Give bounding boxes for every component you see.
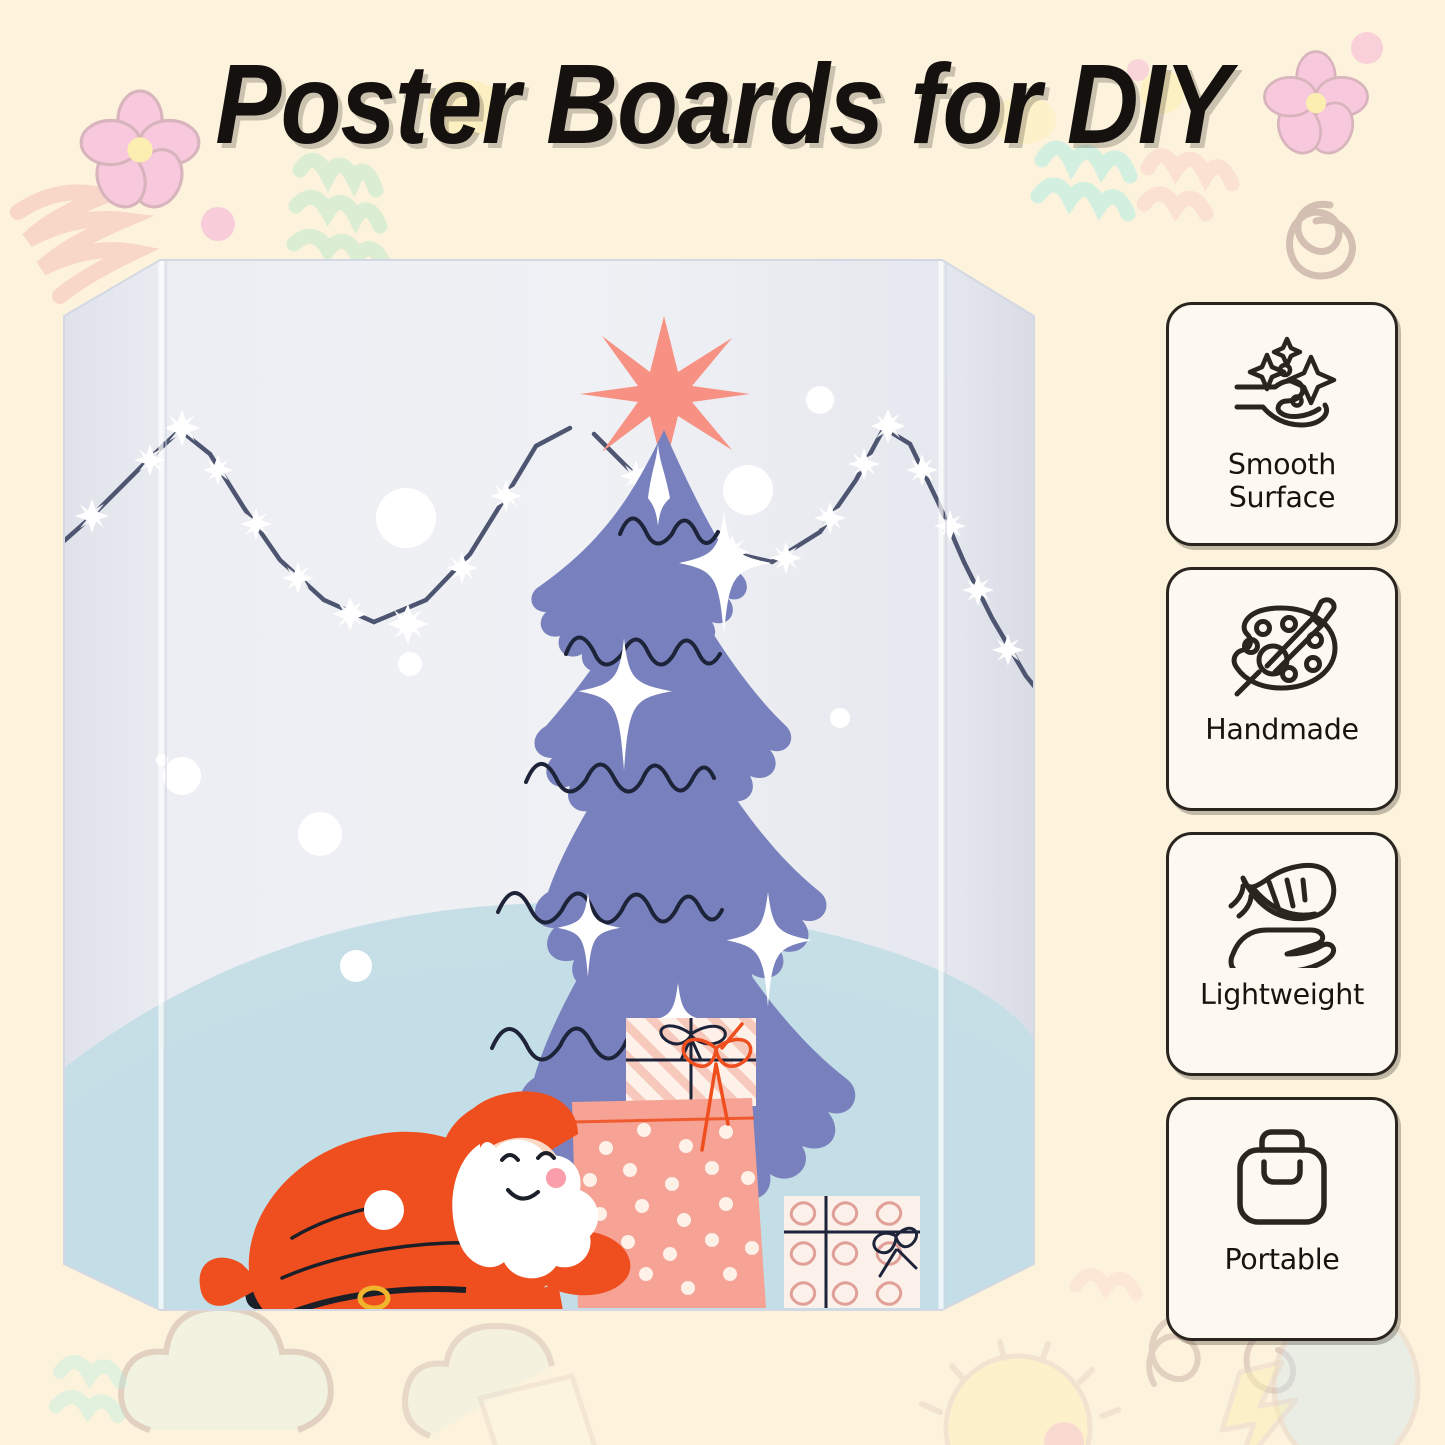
product-marketing-image: Poster Boards for DIY	[0, 0, 1445, 1445]
santa-cheek	[546, 1168, 566, 1188]
feature-badge-label: Smooth Surface	[1222, 448, 1342, 515]
feature-badge-label: Handmade	[1199, 713, 1365, 746]
feature-badge-portable[interactable]: Portable	[1166, 1097, 1398, 1341]
paint-palette-brush-icon	[1217, 592, 1347, 707]
feature-badge-lightweight[interactable]: Lightweight	[1166, 832, 1398, 1076]
dot-pink-1	[201, 207, 235, 241]
feature-badge-label: Lightweight	[1194, 978, 1370, 1011]
poster-board	[30, 248, 1120, 1323]
feature-badge-smooth-surface[interactable]: Smooth Surface	[1166, 302, 1398, 546]
page-title-wrap: Poster Boards for DIY	[0, 48, 1445, 161]
santa-hat-pompom	[364, 1190, 404, 1230]
feature-badge-list: Smooth Surface	[1166, 302, 1398, 1341]
hand-sparkle-icon	[1217, 327, 1347, 442]
briefcase-icon	[1222, 1122, 1342, 1237]
gift-loop-right	[784, 1196, 920, 1308]
feature-badge-handmade[interactable]: Handmade	[1166, 567, 1398, 811]
feather-on-hand-icon	[1217, 857, 1347, 972]
page-title: Poster Boards for DIY	[215, 48, 1230, 161]
feature-badge-label: Portable	[1218, 1243, 1345, 1276]
